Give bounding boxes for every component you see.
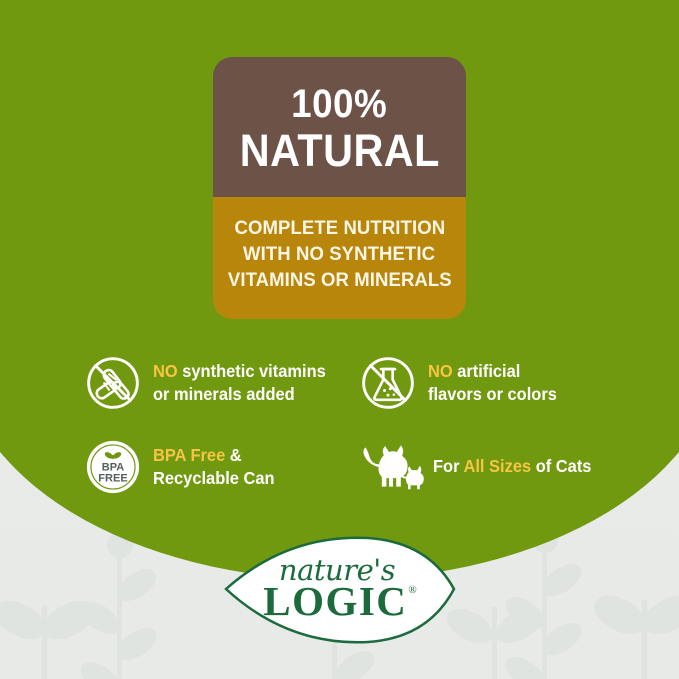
badge-subtext-line-1: COMPLETE NUTRITION bbox=[234, 216, 445, 242]
brand-logo[interactable]: nature's LOGIC ® bbox=[218, 528, 462, 650]
feature-no-artificial-flavors: NO artificial flavors or colors bbox=[359, 354, 565, 412]
badge-subtext-line-2: WITH NO SYNTHETIC bbox=[243, 242, 435, 268]
bpa-free-seal-icon: BPA FREE bbox=[84, 438, 142, 496]
feature-line2: Recyclable Can bbox=[153, 467, 275, 490]
product-feature-panel: 100% NATURAL COMPLETE NUTRITION WITH NO … bbox=[0, 0, 679, 679]
feature-highlight: BPA Free bbox=[153, 445, 225, 465]
feature-label: NO artificial flavors or colors bbox=[428, 360, 557, 406]
svg-text:BPA: BPA bbox=[102, 461, 124, 473]
feature-no-synthetic-vitamins: NO synthetic vitamins or minerals added bbox=[84, 354, 337, 412]
badge-headline-percent: 100% bbox=[292, 84, 388, 124]
badge-subtext-line-3: VITAMINS OR MINERALS bbox=[228, 268, 452, 294]
natural-claim-badge: 100% NATURAL COMPLETE NUTRITION WITH NO … bbox=[213, 57, 466, 319]
no-pills-icon bbox=[84, 354, 142, 412]
feature-highlight: NO bbox=[153, 361, 178, 381]
feature-label: NO synthetic vitamins or minerals added bbox=[153, 360, 326, 406]
cats-icon bbox=[355, 438, 427, 496]
feature-label: BPA Free & Recyclable Can bbox=[153, 444, 275, 490]
badge-headline-panel: 100% NATURAL bbox=[213, 57, 466, 197]
feature-list: NO synthetic vitamins or minerals added … bbox=[0, 352, 679, 512]
logo-leaf-shape bbox=[218, 528, 462, 650]
feature-line2: or minerals added bbox=[153, 383, 326, 406]
feature-highlight: All Sizes bbox=[463, 456, 531, 476]
feature-line2: flavors or colors bbox=[428, 383, 557, 406]
feature-line1-rest: synthetic vitamins bbox=[178, 361, 326, 381]
feature-prefix: For bbox=[433, 456, 463, 476]
feature-line1-rest: & bbox=[225, 445, 241, 465]
feature-bpa-free-recyclable: BPA FREE BPA Free & Recyclable Can bbox=[84, 438, 282, 496]
svg-text:FREE: FREE bbox=[98, 473, 127, 485]
feature-line1-rest: of Cats bbox=[531, 456, 591, 476]
no-flask-icon bbox=[359, 354, 417, 412]
feature-label: For All Sizes of Cats bbox=[433, 455, 591, 478]
badge-subtext-panel: COMPLETE NUTRITION WITH NO SYNTHETIC VIT… bbox=[213, 197, 466, 319]
feature-highlight: NO bbox=[428, 361, 453, 381]
feature-line1-rest: artificial bbox=[453, 361, 521, 381]
feature-for-all-sizes-of-cats: For All Sizes of Cats bbox=[355, 438, 602, 496]
badge-headline-word: NATURAL bbox=[239, 127, 439, 174]
